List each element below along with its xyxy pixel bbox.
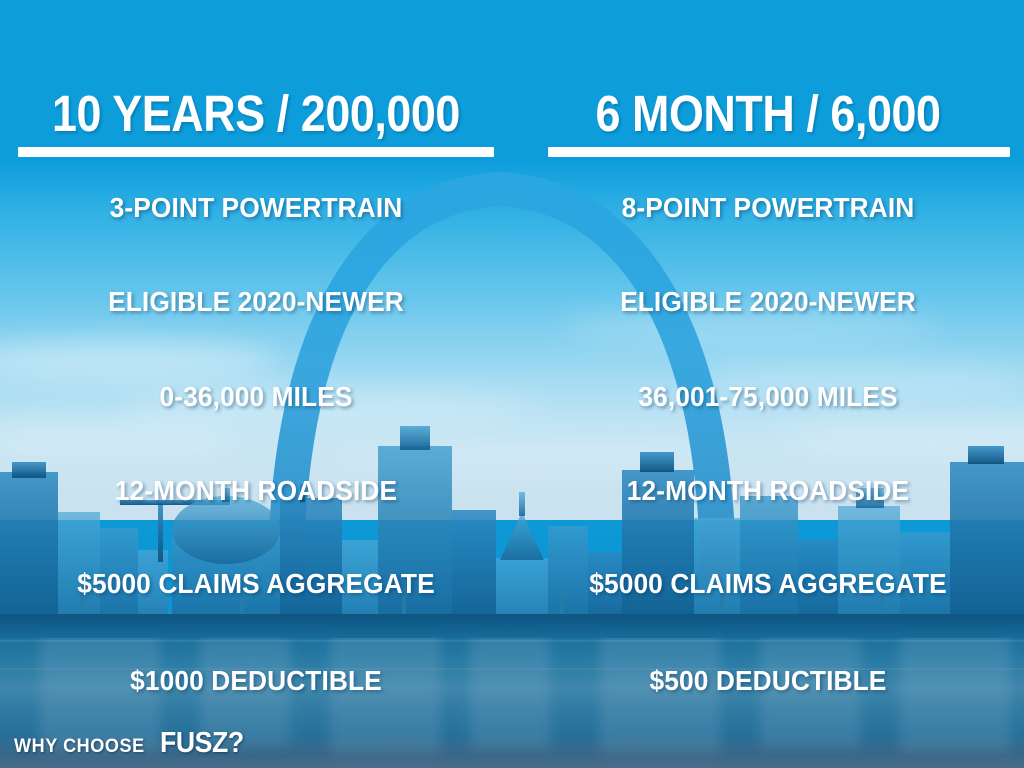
feature-item: $500 DEDUCTIBLE (527, 665, 1008, 697)
feature-item: 3-POINT POWERTRAIN (15, 192, 496, 224)
plan-column-left: 10 YEARS / 200,000 3-POINT POWERTRAIN EL… (0, 0, 512, 768)
plan-column-right: 6 MONTH / 6,000 8-POINT POWERTRAIN ELIGI… (512, 0, 1024, 768)
feature-item: 8-POINT POWERTRAIN (527, 192, 1008, 224)
plan-heading-left: 10 YEARS / 200,000 (31, 86, 482, 142)
feature-item: 12-MONTH ROADSIDE (527, 475, 1008, 507)
feature-item: 0-36,000 MILES (15, 381, 496, 413)
feature-item: 12-MONTH ROADSIDE (15, 475, 496, 507)
feature-item: ELIGIBLE 2020-NEWER (15, 286, 496, 318)
content-overlay: 10 YEARS / 200,000 3-POINT POWERTRAIN EL… (0, 0, 1024, 768)
feature-item: $1000 DEDUCTIBLE (15, 665, 496, 697)
brand-lockup: WHY CHOOSE FUSZ? (14, 727, 251, 760)
heading-underline-right (548, 147, 1010, 157)
warranty-comparison-graphic: 10 YEARS / 200,000 3-POINT POWERTRAIN EL… (0, 0, 1024, 768)
brand-name-text: FUSZ? (160, 727, 244, 760)
feature-item: ELIGIBLE 2020-NEWER (527, 286, 1008, 318)
heading-underline-left (18, 147, 494, 157)
feature-item: 36,001-75,000 MILES (527, 381, 1008, 413)
feature-item: $5000 CLAIMS AGGREGATE (15, 568, 496, 600)
feature-item: $5000 CLAIMS AGGREGATE (527, 568, 1008, 600)
plan-heading-right: 6 MONTH / 6,000 (543, 86, 994, 142)
brand-prefix-text: WHY CHOOSE (14, 736, 145, 758)
